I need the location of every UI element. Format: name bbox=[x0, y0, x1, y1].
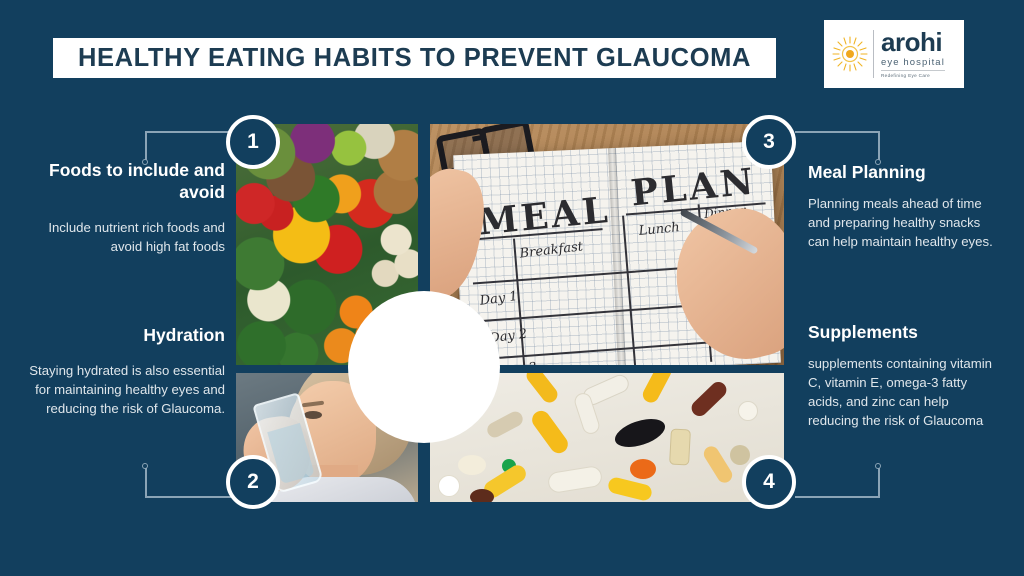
connector-2-dot bbox=[142, 463, 148, 469]
block-foods-to-include-and-avoid: Foods to include and avoid Include nutri… bbox=[20, 160, 225, 256]
logo-divider bbox=[873, 30, 874, 78]
connector-3-horizontal bbox=[795, 131, 880, 133]
page-title: HEALTHY EATING HABITS TO PREVENT GLAUCOM… bbox=[78, 44, 751, 73]
page-title-bar: HEALTHY EATING HABITS TO PREVENT GLAUCOM… bbox=[53, 38, 776, 78]
block-supplements: Supplements supplements containing vitam… bbox=[808, 322, 998, 430]
step-badge-4-label: 4 bbox=[763, 470, 775, 494]
connector-2-vertical bbox=[145, 466, 147, 497]
center-white-circle bbox=[348, 291, 500, 443]
block-meal-planning-body: Planning meals ahead of time and prepari… bbox=[808, 194, 998, 251]
connector-3-dot bbox=[875, 159, 881, 165]
photo-grid: MEAL PLAN Breakfast Lunch Dinner Day 1 D… bbox=[236, 124, 784, 502]
sunburst-eye-icon bbox=[830, 34, 870, 74]
connector-1-vertical bbox=[145, 131, 147, 161]
step-badge-3[interactable]: 3 bbox=[742, 115, 796, 169]
block-hydration-body: Staying hydrated is also essential for m… bbox=[20, 361, 225, 418]
block-hydration: Hydration Staying hydrated is also essen… bbox=[20, 325, 225, 418]
connector-3-vertical bbox=[878, 131, 880, 161]
connector-2-horizontal bbox=[145, 496, 231, 498]
brand-logo: arohi eye hospital Redefining Eye Care bbox=[824, 20, 964, 88]
block-meal-planning: Meal Planning Planning meals ahead of ti… bbox=[808, 162, 998, 251]
step-badge-2[interactable]: 2 bbox=[226, 455, 280, 509]
connector-1-dot bbox=[142, 159, 148, 165]
logo-wordmark: arohi eye hospital Redefining Eye Care bbox=[881, 29, 945, 79]
connector-1-horizontal bbox=[145, 131, 231, 133]
block-supplements-heading: Supplements bbox=[808, 322, 998, 344]
block-meal-planning-heading: Meal Planning bbox=[808, 162, 998, 184]
step-badge-4[interactable]: 4 bbox=[742, 455, 796, 509]
connector-4-dot bbox=[875, 463, 881, 469]
connector-4-vertical bbox=[878, 466, 880, 497]
logo-tagline: Redefining Eye Care bbox=[881, 74, 945, 79]
step-badge-3-label: 3 bbox=[763, 130, 775, 154]
infographic-canvas: HEALTHY EATING HABITS TO PREVENT GLAUCOM… bbox=[0, 0, 1024, 576]
block-foods-heading: Foods to include and avoid bbox=[20, 160, 225, 204]
block-hydration-heading: Hydration bbox=[20, 325, 225, 347]
step-badge-1-label: 1 bbox=[247, 130, 259, 154]
block-supplements-body: supplements containing vitamin C, vitami… bbox=[808, 354, 998, 431]
logo-name: arohi bbox=[881, 29, 945, 55]
step-badge-2-label: 2 bbox=[247, 470, 259, 494]
connector-4-horizontal bbox=[795, 496, 880, 498]
step-badge-1[interactable]: 1 bbox=[226, 115, 280, 169]
block-foods-body: Include nutrient rich foods and avoid hi… bbox=[20, 218, 225, 256]
logo-subtitle: eye hospital bbox=[881, 58, 945, 72]
eye bbox=[304, 411, 322, 419]
